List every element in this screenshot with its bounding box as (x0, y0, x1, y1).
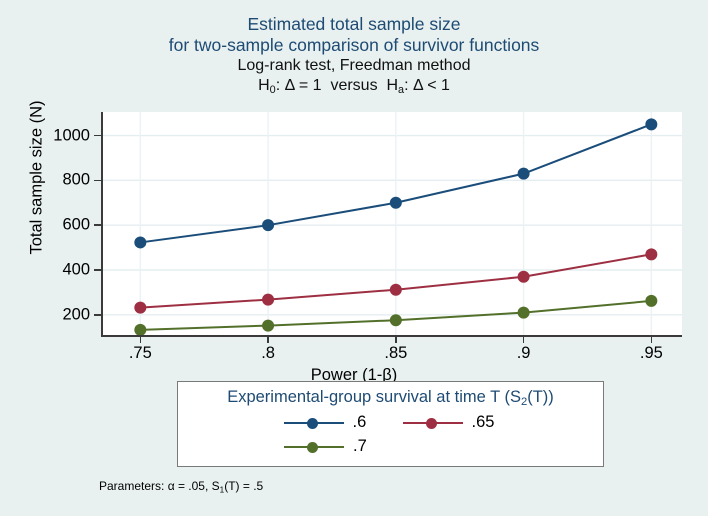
legend-title-pre: Experimental-group survival at time T (S (227, 388, 521, 406)
data-point-marker (134, 236, 146, 248)
x-axis-tick-label: .95 (640, 344, 663, 363)
y-axis-tick-label: 600 (44, 216, 90, 235)
legend-marker-icon (284, 416, 344, 430)
y-axis-tick (94, 314, 101, 316)
parameters-note: Parameters: α = .05, S1(T) = .5 (99, 479, 263, 494)
data-point-marker (390, 197, 402, 209)
parameters-note-post: (T) = .5 (224, 479, 263, 493)
hypothesis-end: : Δ < 1 (404, 77, 450, 94)
legend-entry-p65[interactable]: .65 (403, 413, 498, 432)
legend-title-post: (T)) (527, 388, 554, 406)
legend-entry-p7[interactable]: .7 (284, 437, 379, 456)
x-axis-tick-label: .75 (129, 344, 152, 363)
parameters-note-pre: Parameters: α = .05, S (99, 479, 220, 493)
chart-subtitle-method: Log-rank test, Freedman method (0, 56, 708, 76)
x-axis-tick-label: .9 (517, 344, 531, 363)
hypothesis-middle: : Δ = 1 versus H (276, 77, 398, 94)
legend-row-second: .7 (178, 437, 603, 456)
data-point-marker (262, 294, 274, 306)
y-axis-tick (94, 269, 101, 271)
legend-entry-p6[interactable]: .6 (284, 413, 379, 432)
y-axis-tick-label: 1000 (44, 126, 90, 145)
data-point-marker (518, 271, 530, 283)
data-point-marker (518, 307, 530, 319)
hypothesis-h0: H (258, 77, 270, 94)
data-point-marker (262, 219, 274, 231)
y-axis-tick (94, 180, 101, 182)
x-axis-tick (140, 336, 142, 343)
chart-title-line-1: Estimated total sample size (0, 14, 708, 35)
y-axis-tick-label: 800 (44, 171, 90, 190)
x-axis-tick-label: .85 (384, 344, 407, 363)
chart-title-line-2: for two-sample comparison of survivor fu… (0, 35, 708, 56)
legend-marker-icon (403, 416, 463, 430)
y-axis-title: Total sample size (N) (28, 78, 47, 278)
data-point-marker (134, 324, 146, 335)
plot-svg (102, 112, 682, 335)
legend-entry-label: .6 (353, 413, 379, 432)
x-axis-line (101, 335, 682, 337)
x-axis-tick (651, 336, 653, 343)
data-point-marker (390, 284, 402, 296)
data-point-marker (262, 320, 274, 332)
y-axis-tick-label: 400 (44, 261, 90, 280)
plot-area (102, 112, 682, 335)
x-axis-tick (523, 336, 525, 343)
x-axis-tick-label: .8 (261, 344, 275, 363)
data-point-marker (390, 314, 402, 326)
legend-box: Experimental-group survival at time T (S… (177, 381, 604, 467)
data-point-marker (645, 248, 657, 260)
legend-entry-label: .7 (353, 437, 379, 456)
x-axis-tick (395, 336, 397, 343)
legend-marker-icon (284, 440, 344, 454)
chart-title-block: Estimated total sample size for two-samp… (0, 14, 708, 100)
y-axis-tick (94, 135, 101, 137)
legend-title: Experimental-group survival at time T (S… (178, 388, 603, 408)
data-point-marker (645, 118, 657, 130)
data-point-marker (518, 168, 530, 180)
y-axis-line (101, 112, 103, 336)
legend-entry-label: .65 (472, 413, 498, 432)
chart-subtitle-hypothesis: H0: Δ = 1 versus Ha: Δ < 1 (0, 76, 708, 100)
x-axis-tick (267, 336, 269, 343)
chart-canvas: Estimated total sample size for two-samp… (0, 0, 708, 516)
data-point-marker (134, 302, 146, 314)
data-point-marker (645, 295, 657, 307)
legend-row-first: .6.65 (178, 413, 603, 432)
y-axis-tick-label: 200 (44, 305, 90, 324)
y-axis-tick (94, 224, 101, 226)
